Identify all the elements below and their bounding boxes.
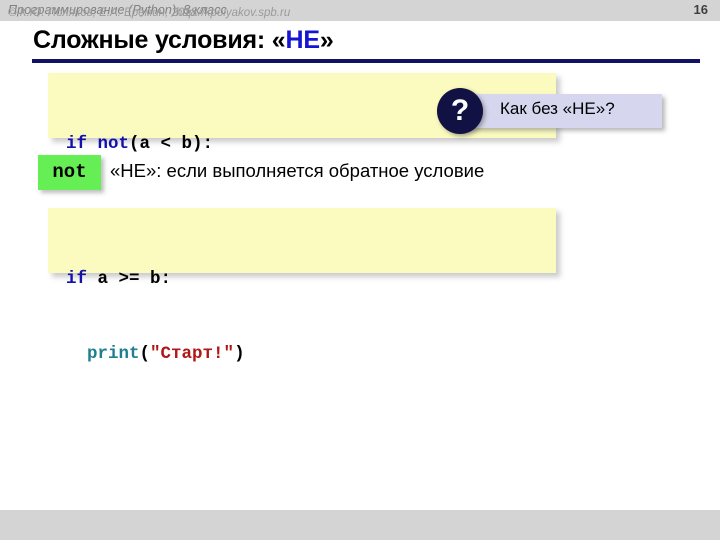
footer-bar [0,510,720,540]
title-underline [32,59,700,63]
page-title: Сложные условия: «НЕ» [33,26,334,55]
slide-number: 16 [694,2,708,17]
code-line: if not(a < b): [66,132,556,157]
code-token: "Старт!" [150,344,234,364]
code-line: print("Старт!") [66,342,556,367]
footer-url[interactable]: http://kpolyakov.spb.ru [176,7,290,19]
code-token: print [87,344,140,364]
question-mark-glyph: ? [437,88,483,134]
code-token: a >= b: [87,269,171,289]
page-title-accent: НЕ [285,26,319,54]
explanation-text: «НЕ»: если выполняется обратное условие [110,160,484,182]
code-token: (a < b): [129,134,213,154]
code-token [87,134,98,154]
page-title-suffix: » [320,26,334,54]
code-token: not [98,134,130,154]
footer-copyright: © К.Ю. Поляков, Е.А. Ерёмин, 2018 [8,7,197,19]
callout-hint: Как без «НЕ»? ? [437,88,665,134]
code-token: if [66,134,87,154]
callout-text: Как без «НЕ»? [500,99,615,119]
code-token: if [66,269,87,289]
code-line: if a >= b: [66,267,556,292]
page-title-prefix: Сложные условия: « [33,26,285,54]
code-token [66,344,87,364]
code-token: ) [234,344,245,364]
code-token: ( [140,344,151,364]
code-block-inverse: if a >= b: print("Старт!") [48,208,556,273]
keyword-badge-not: not [38,155,101,190]
